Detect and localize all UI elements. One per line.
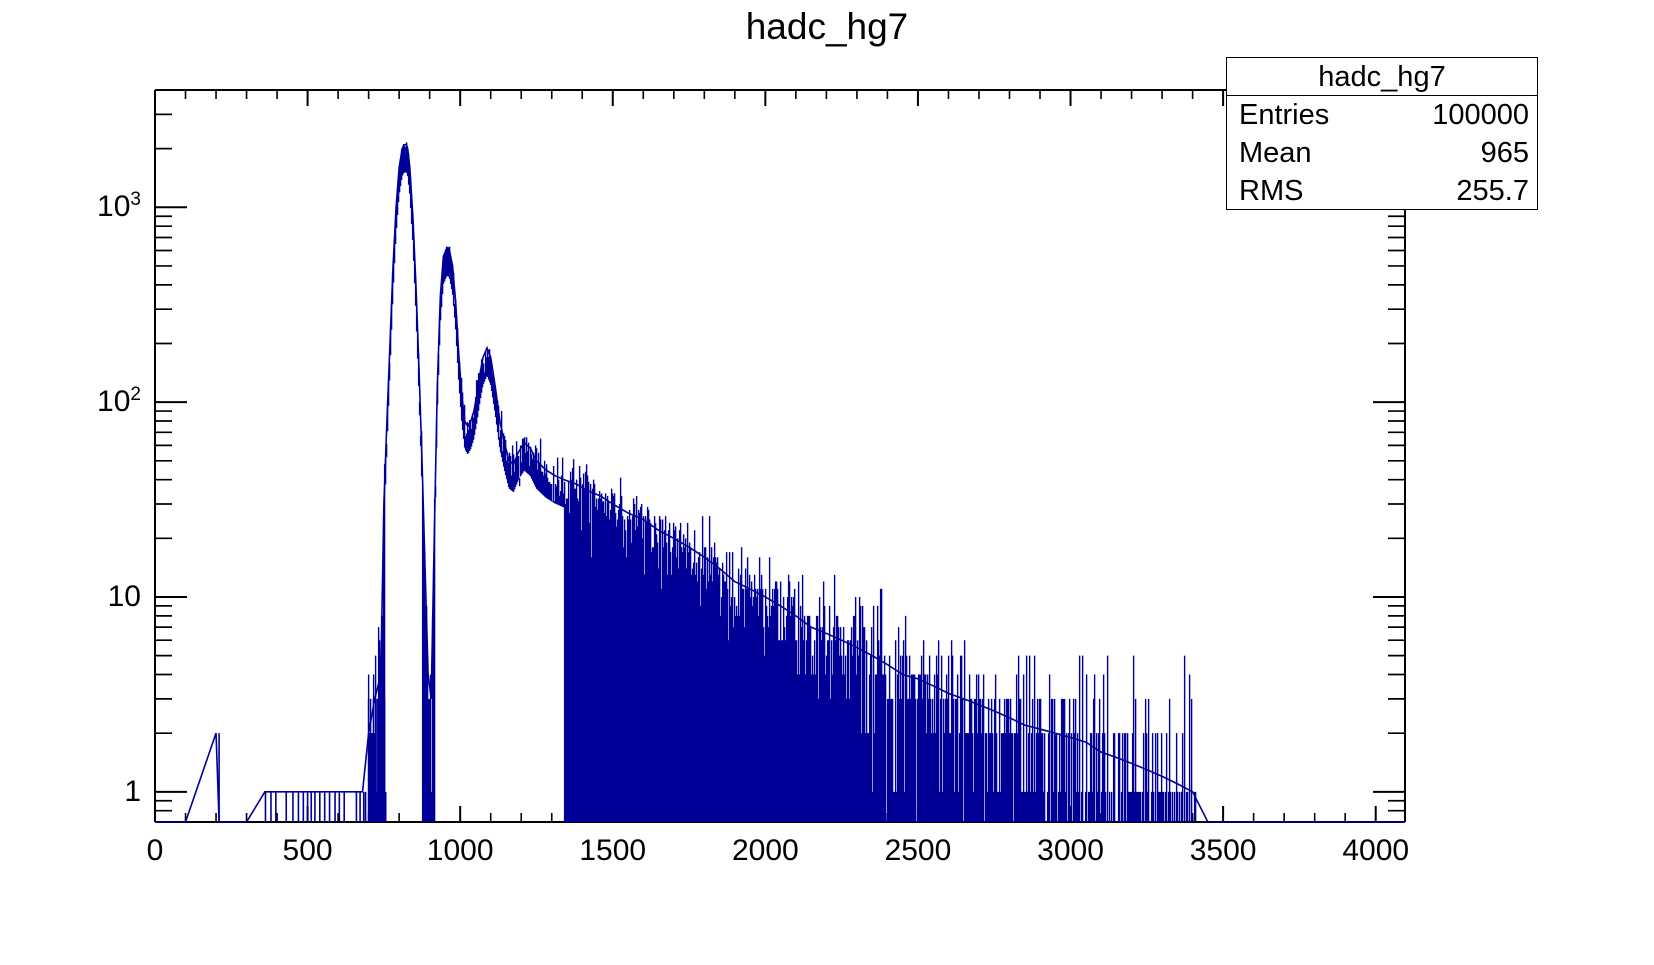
histogram-series	[155, 142, 1405, 822]
histogram-spikes	[219, 142, 1196, 822]
x-tick-label: 1500	[579, 834, 646, 868]
stats-label-entries: Entries	[1239, 96, 1329, 134]
stats-box-title: hadc_hg7	[1227, 58, 1537, 96]
stats-row-rms: RMS 255.7	[1227, 172, 1537, 210]
stats-row-mean: Mean 965	[1227, 134, 1537, 172]
stats-box[interactable]: hadc_hg7 Entries 100000 Mean 965 RMS 255…	[1226, 57, 1538, 210]
x-tick-label: 1000	[427, 834, 494, 868]
y-tick-label: 10	[108, 580, 141, 614]
stats-label-mean: Mean	[1239, 134, 1312, 172]
y-tick-label: 1	[124, 775, 141, 809]
x-tick-label: 3500	[1190, 834, 1257, 868]
x-tick-label: 500	[283, 834, 333, 868]
stats-label-rms: RMS	[1239, 172, 1303, 210]
x-tick-label: 2000	[732, 834, 799, 868]
x-tick-label: 2500	[885, 834, 952, 868]
x-tick-label: 4000	[1342, 834, 1409, 868]
stats-value-entries: 100000	[1432, 96, 1529, 134]
y-tick-label: 103	[97, 190, 141, 224]
x-tick-label: 3000	[1037, 834, 1104, 868]
y-tick-label: 102	[97, 385, 141, 419]
stats-row-entries: Entries 100000	[1227, 96, 1537, 134]
stats-value-rms: 255.7	[1456, 172, 1529, 210]
stats-value-mean: 965	[1481, 134, 1529, 172]
x-tick-label: 0	[147, 834, 164, 868]
